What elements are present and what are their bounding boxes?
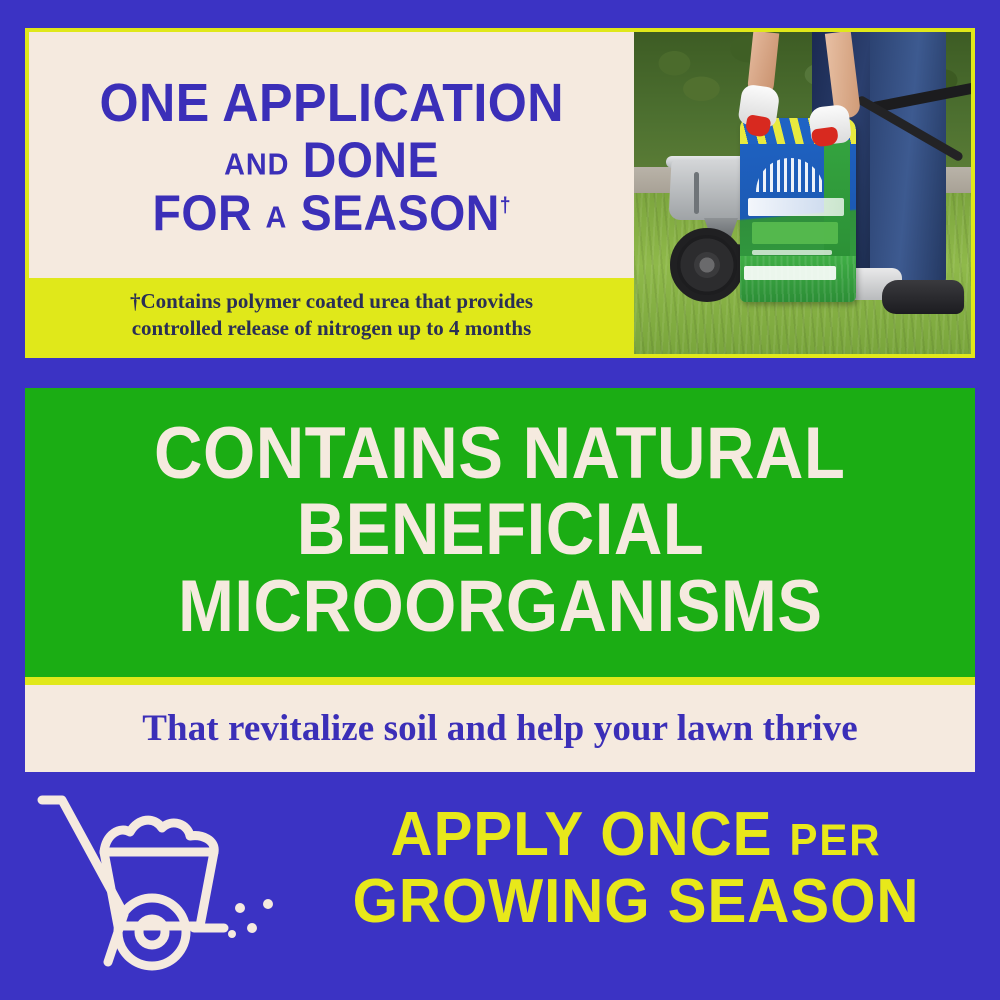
headline-season-word: SEASON — [300, 185, 499, 241]
headline-block: ONE APPLICATION AND DONE FOR A SEASON† — [29, 32, 634, 278]
headline-line-1: ONE APPLICATION — [99, 76, 564, 131]
photo-bag-sunburst-logo — [756, 158, 824, 192]
headline-done-word: DONE — [303, 132, 439, 188]
dagger-symbol: † — [499, 194, 510, 217]
headline-line-3: FOR A SEASON† — [152, 188, 511, 239]
footnote-line-2: controlled release of nitrogen up to 4 m… — [39, 315, 624, 342]
headline-line-2: AND DONE — [224, 135, 439, 186]
headline-text-column: ONE APPLICATION AND DONE FOR A SEASON† †… — [29, 32, 634, 354]
footnote-line-1: †Contains polymer coated urea that provi… — [39, 288, 624, 315]
photo-bag-product-type — [752, 222, 838, 244]
headline-and-word: AND — [224, 146, 289, 181]
product-feature-infographic: ONE APPLICATION AND DONE FOR A SEASON† †… — [0, 0, 1000, 1000]
headline-for-word: FOR — [152, 185, 252, 241]
photo-person-front-shoe — [882, 280, 964, 314]
yellow-divider-strip — [25, 677, 975, 685]
lawn-spreader-icon — [28, 786, 280, 976]
photo-spreader-slot — [694, 172, 699, 214]
photo-spreader-wheel — [670, 228, 744, 302]
green-banner-line-3: MICROORGANISMS — [178, 569, 822, 646]
product-in-use-photo — [634, 32, 971, 354]
granule-dots — [228, 899, 273, 938]
apply-once-section: APPLY ONCE PER GROWING SEASON — [0, 772, 1000, 1000]
photo-bag-product-name — [748, 198, 844, 216]
microorganisms-banner: CONTAINS NATURAL BENEFICIAL MICROORGANIS… — [25, 388, 975, 677]
subheadline-text: That revitalize soil and help your lawn … — [142, 707, 858, 750]
photo-person-front-leg — [870, 32, 946, 294]
green-banner-line-1: CONTAINS NATURAL — [154, 416, 845, 493]
green-banner-line-2: BENEFICIAL — [296, 492, 704, 569]
bottom-line-2: GROWING SEASON — [320, 869, 952, 936]
headline-a-word: A — [265, 199, 287, 234]
photo-bag-claim-line-1 — [752, 250, 832, 255]
apply-once-words: APPLY ONCE — [391, 800, 773, 869]
headline-card: ONE APPLICATION AND DONE FOR A SEASON† †… — [25, 28, 975, 358]
bottom-line-1: APPLY ONCE PER — [320, 802, 952, 869]
subheadline-banner: That revitalize soil and help your lawn … — [25, 685, 975, 772]
apply-once-text-block: APPLY ONCE PER GROWING SEASON — [300, 802, 972, 936]
photo-bag-info-panel — [744, 266, 836, 280]
photo-fertilizer-bag — [740, 118, 856, 302]
footnote-block: †Contains polymer coated urea that provi… — [29, 278, 634, 354]
per-word: PER — [790, 816, 882, 865]
